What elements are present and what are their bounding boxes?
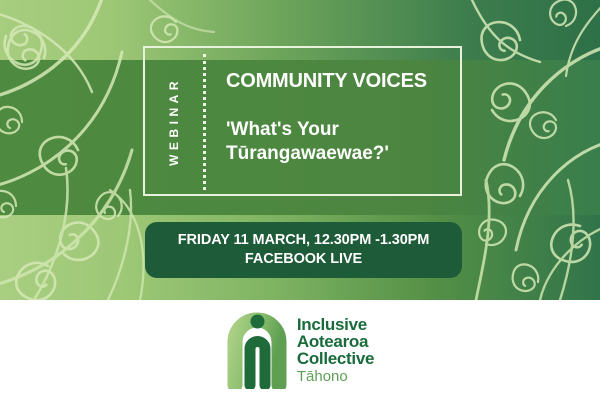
logo-word-aotearoa: Aotearoa [297,333,374,350]
webinar-promo-poster: WEBINAR COMMUNITY VOICES 'What's Your Tū… [0,0,600,400]
event-platform: FACEBOOK LIVE [155,250,452,269]
webinar-vertical-label: WEBINAR [167,77,181,166]
subhead-line-2: Tūrangawaewae?' [226,142,450,166]
nested-arch-person-icon [226,311,288,389]
logo-word-inclusive: Inclusive [297,316,374,333]
logo-tagline-tahono: Tāhono [297,369,374,384]
logo-strip: Inclusive Aotearoa Collective Tāhono [0,300,600,400]
framed-content-panel: WEBINAR COMMUNITY VOICES 'What's Your Tū… [143,46,462,196]
event-date-time: FRIDAY 11 MARCH, 12.30PM -1.30PM [155,231,452,250]
logo-word-collective: Collective [297,350,374,367]
headline-title: COMMUNITY VOICES [226,70,450,92]
event-datetime-pill: FRIDAY 11 MARCH, 12.30PM -1.30PM FACEBOO… [145,222,462,278]
webinar-label-column: WEBINAR [145,48,203,194]
subhead-line-1: 'What's Your [226,118,450,142]
panel-text-block: COMMUNITY VOICES 'What's Your Tūrangawae… [206,48,460,194]
koru-graphic-area: WEBINAR COMMUNITY VOICES 'What's Your Tū… [0,0,600,300]
logo-wordmark: Inclusive Aotearoa Collective Tāhono [297,316,374,384]
logo-lockup: Inclusive Aotearoa Collective Tāhono [226,311,374,389]
subhead-block: 'What's Your Tūrangawaewae?' [226,118,450,166]
